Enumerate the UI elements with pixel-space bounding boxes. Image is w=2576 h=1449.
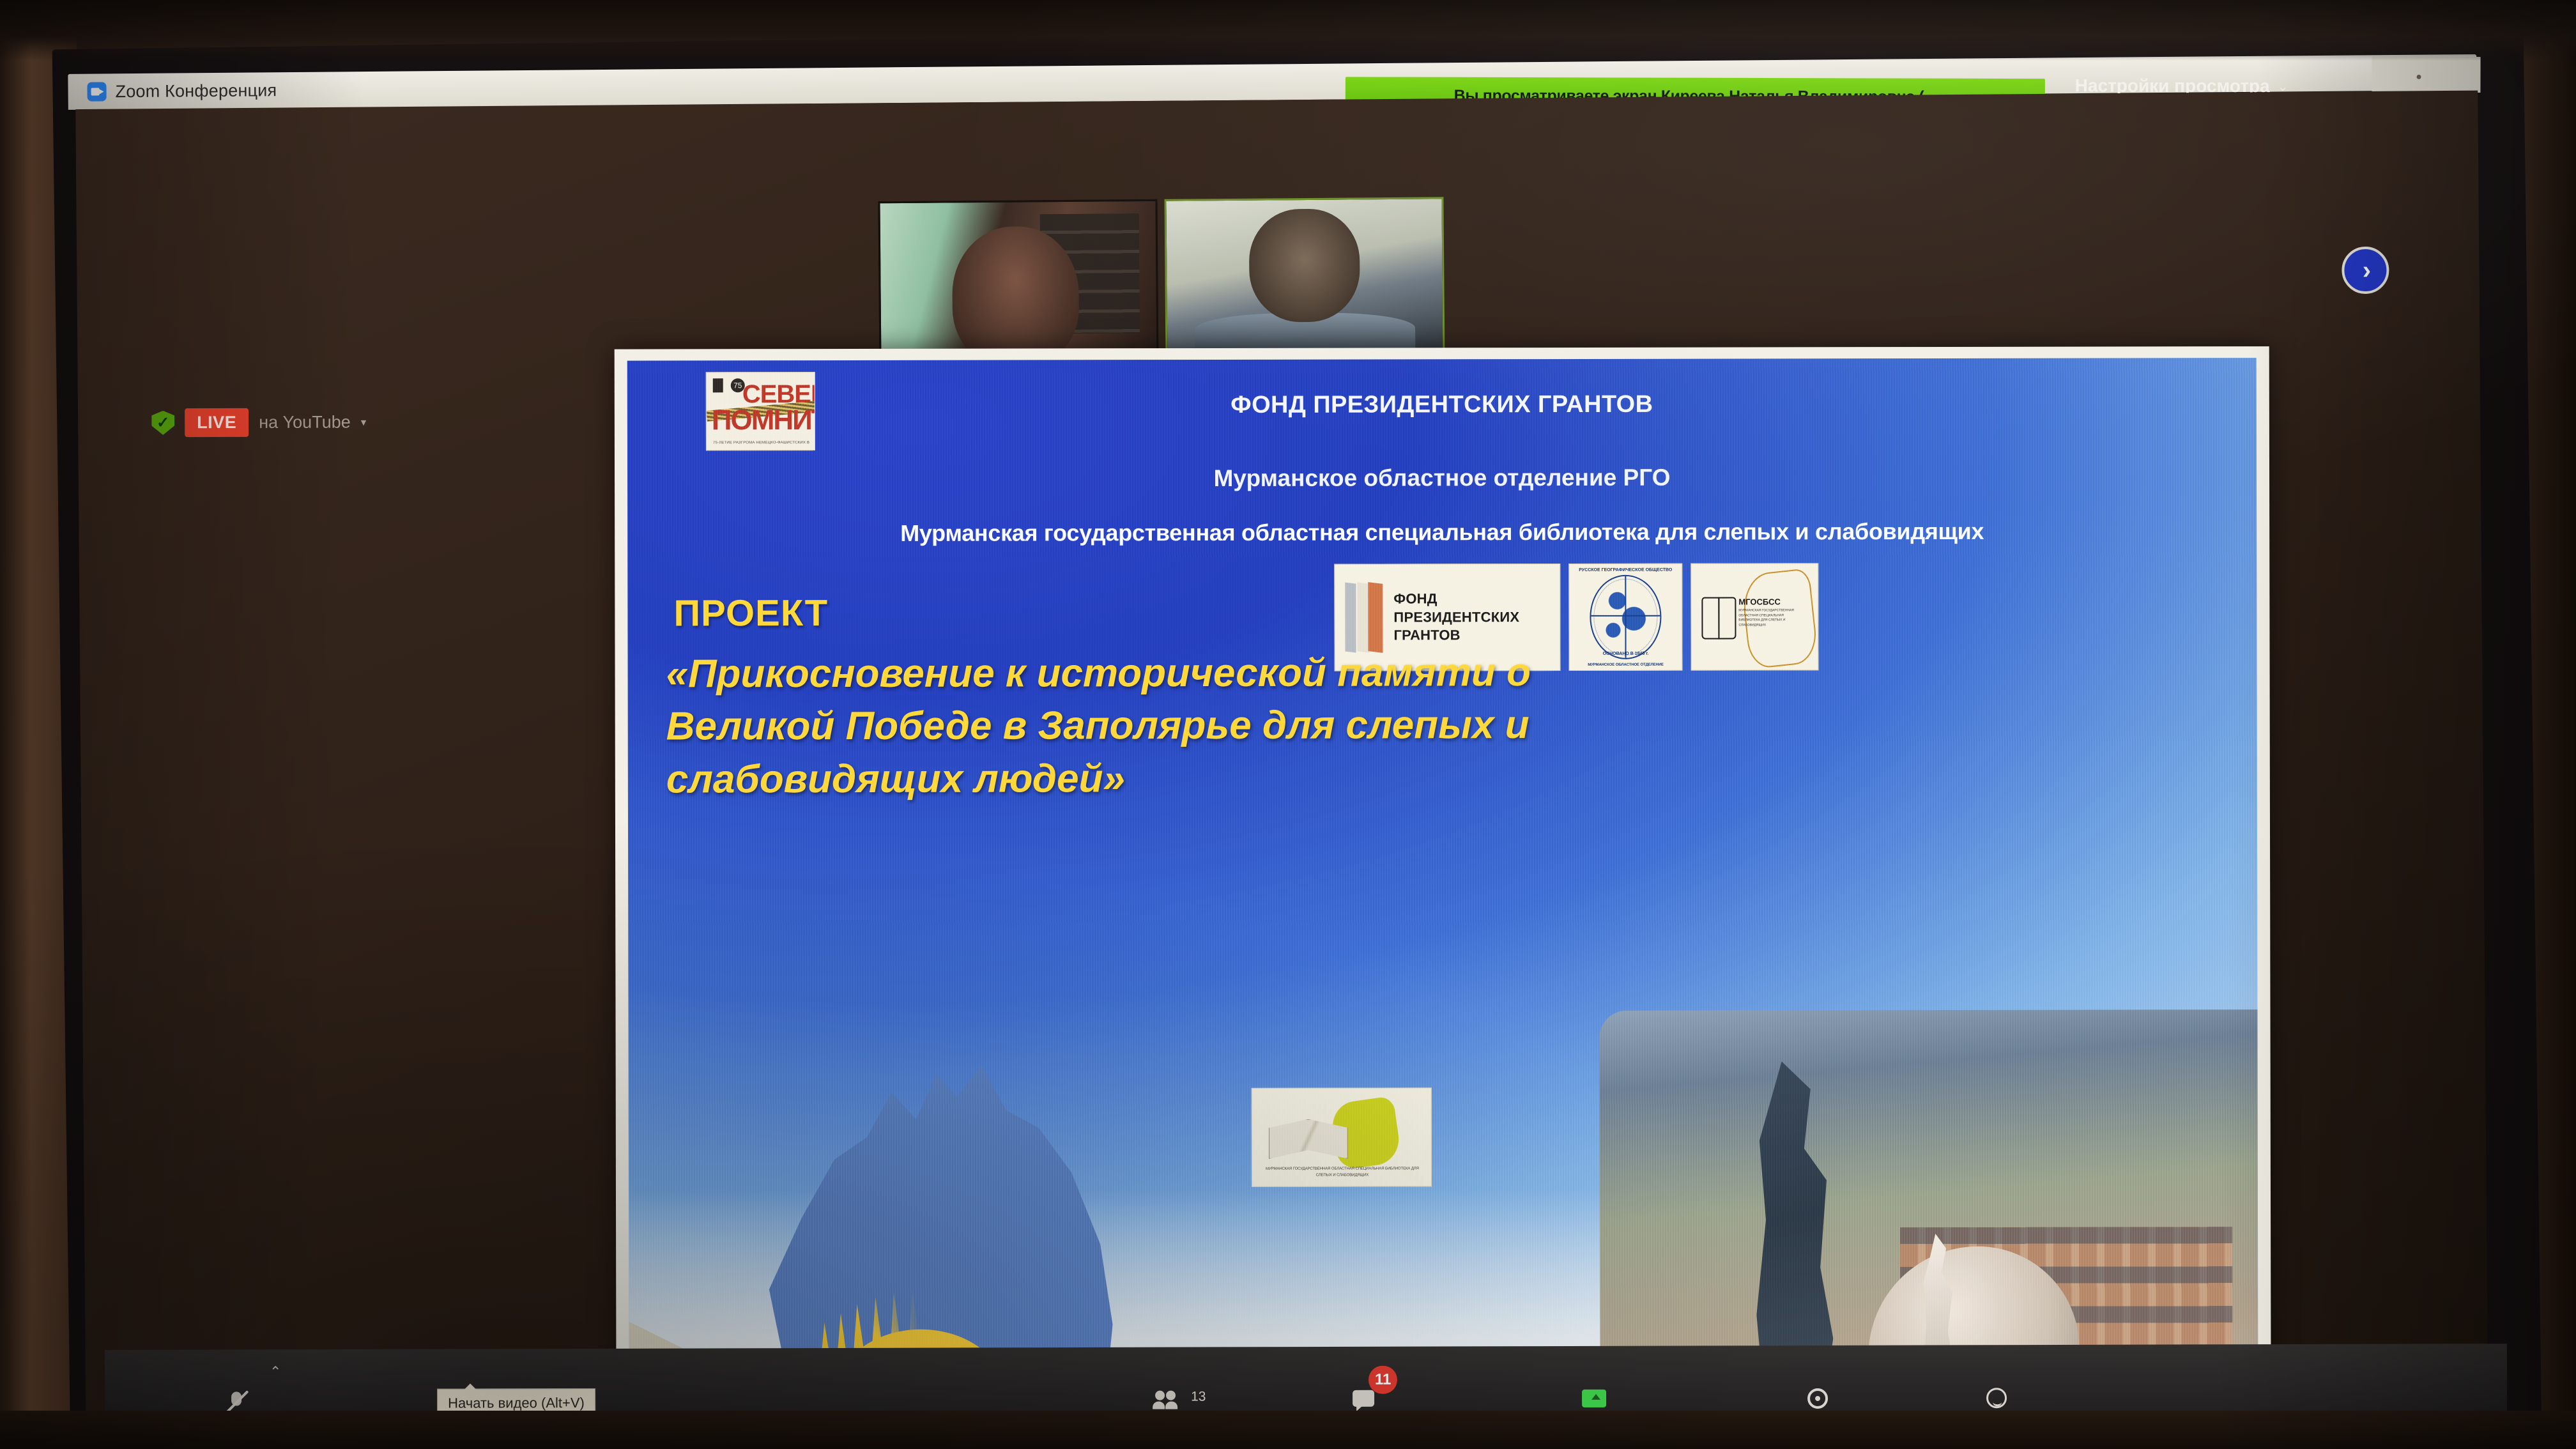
participants-button[interactable] [1153,1388,1179,1413]
record-button[interactable] [1804,1386,1831,1411]
participants-count: 13 [1191,1389,1206,1404]
live-badge: LIVE [185,408,249,437]
chat-unread-badge: 11 [1368,1366,1397,1394]
grant-fund-flag-icon [1345,583,1383,652]
video-tile-elena-lobankina[interactable] [878,199,1158,358]
record-icon [1804,1386,1831,1411]
project-title-line-1: «Прикосновение к исторической памяти о [666,646,1842,701]
sever-logo-badges: 75 [713,378,745,392]
fond-logo-text: ФОНДПРЕЗИДЕНТСКИХГРАНТОВ [1393,590,1519,645]
zoom-toolbar: ⌃ Начать видео (Alt+V) 13 11 [105,1344,2507,1419]
shared-screen-slide[interactable]: 75 СЕВЕР ПОМНИТ 75-ЛЕТИЕ РАЗГРОМА НЕМЕЦК… [615,346,2271,1449]
window-control-dot [2416,75,2421,79]
desk-surface [0,1411,2576,1449]
verified-shield-icon [151,411,174,435]
mgosbss-abbr: МГОСБСС [1738,597,1781,606]
audio-options-caret-icon[interactable]: ⌃ [270,1363,282,1380]
mgosbss-full-name: МУРМАНСКАЯ ГОСУДАРСТВЕННАЯ ОБЛАСТНАЯ СПЕ… [1738,608,1797,627]
chevron-down-icon: ▾ [361,416,367,429]
reactions-icon [1983,1386,2010,1410]
share-screen-icon [1581,1387,1607,1411]
project-title-line-3: слабовидящих людей» [666,751,1842,806]
photographed-monitor-scene: Zoom Конференция Вы просматриваете экран… [0,0,2576,1449]
live-stream-indicator[interactable]: LIVE на YouTube ▾ [151,408,366,437]
chat-button[interactable] [1351,1388,1377,1412]
photo-top-shadow [0,0,2576,61]
video-tile-kireeva[interactable] [1164,197,1445,355]
webcam-feed [880,201,1157,356]
project-title: «Прикосновение к исторической памяти о В… [666,646,1842,806]
emblem-icon [713,378,723,392]
zoom-camera-icon [87,82,106,101]
participants-icon [1153,1388,1179,1413]
slide-header-line1: ФОНД ПРЕЗИДЕНТСКИХ ГРАНТОВ [627,390,2257,420]
share-screen-button[interactable] [1581,1387,1607,1411]
monitor-screen: Zoom Конференция Вы просматриваете экран… [52,17,2542,1449]
window-title: Zoom Конференция [115,80,277,102]
project-title-line-2: Великой Победе в Заполярье для слепых и [666,699,1842,754]
chevron-right-icon: › [2363,257,2372,283]
meeting-canvas: LIVE на YouTube ▾ Лунева Ольга... Мурман… [75,91,2488,1425]
sever-logo-caption: 75-ЛЕТИЕ РАЗГРОМА НЕМЕЦКО-ФАШИСТСКИХ ВОЙ… [713,441,809,445]
library-logo-caption: МУРМАНСКАЯ ГОСУДАРСТВЕННАЯ ОБЛАСТНАЯ СПЕ… [1259,1165,1426,1179]
slide-header-line3: Мурманская государственная областная спе… [627,517,2257,547]
library-logo-mark: МУРМАНСКАЯ ГОСУДАРСТВЕННАЯ ОБЛАСТНАЯ СПЕ… [1252,1087,1432,1186]
live-platform-label: на YouTube [259,412,351,432]
window-controls-area[interactable] [2372,57,2480,93]
rgo-logo-top-text: РУССКОЕ ГЕОГРАФИЧЕСКОЕ ОБЩЕСТВО [1569,568,1682,572]
slide-header-line2: Мурманское областное отделение РГО [627,463,2257,493]
reactions-button[interactable] [1983,1386,2010,1410]
webcam-feed [1166,199,1443,353]
chat-icon [1351,1388,1377,1412]
filmstrip-next-button[interactable]: › [2342,247,2389,295]
open-book-icon [1701,597,1735,637]
project-kicker: ПРОЕКТ [673,592,828,634]
presentation-slide: 75 СЕВЕР ПОМНИТ 75-ЛЕТИЕ РАЗГРОМА НЕМЕЦК… [627,358,2258,1449]
